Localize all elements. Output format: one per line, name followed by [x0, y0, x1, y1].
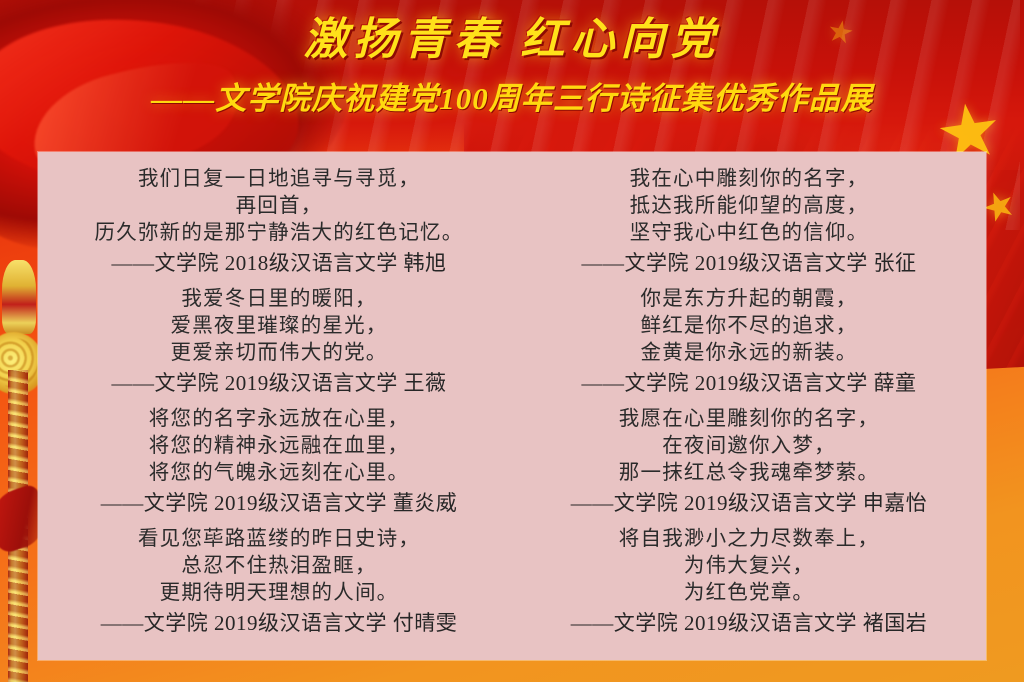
- poem-line: 更期待明天理想的人间。: [52, 580, 506, 607]
- poem-line: 金黄是你永远的新装。: [522, 340, 976, 367]
- poem-line: 在夜间邀你入梦，: [522, 433, 976, 460]
- poems-panel: 我们日复一日地追寻与寻觅， 再回首， 历久弥新的是那宁静浩大的红色记忆。 ——文…: [38, 152, 986, 660]
- poem-line: 为红色党章。: [522, 580, 976, 607]
- poem-line: 你是东方升起的朝霞，: [522, 286, 976, 313]
- poem-line: 将自我渺小之力尽数奉上，: [522, 526, 976, 553]
- poem-line: 将您的名字永远放在心里，: [52, 406, 506, 433]
- poem-attribution: ——文学院 2019级汉语言文学 张征: [522, 248, 976, 279]
- golden-huabiao-pillar: [0, 250, 40, 682]
- poem-attribution: ——文学院 2019级汉语言文学 董炎威: [52, 488, 506, 519]
- poster-title: 激扬青春 红心向党: [0, 12, 1024, 67]
- poem-line: 爱黑夜里璀璨的星光，: [52, 313, 506, 340]
- poem-attribution: ——文学院 2019级汉语言文学 薛童: [522, 368, 976, 399]
- poem-line: 我爱冬日里的暖阳，: [52, 286, 506, 313]
- poem-entry: 将自我渺小之力尽数奉上， 为伟大复兴， 为红色党章。 ——文学院 2019级汉语…: [522, 526, 976, 639]
- poem-line: 更爱亲切而伟大的党。: [52, 340, 506, 367]
- poem-line: 将您的精神永远融在血里，: [52, 433, 506, 460]
- poem-line: 再回首，: [52, 193, 506, 220]
- poem-line: 为伟大复兴，: [522, 553, 976, 580]
- poem-attribution: ——文学院 2019级汉语言文学 申嘉怡: [522, 488, 976, 519]
- poem-entry: 我爱冬日里的暖阳， 爱黑夜里璀璨的星光， 更爱亲切而伟大的党。 ——文学院 20…: [52, 286, 506, 399]
- left-column: 我们日复一日地追寻与寻觅， 再回首， 历久弥新的是那宁静浩大的红色记忆。 ——文…: [38, 152, 516, 660]
- poster-canvas: ★ ★ ★ ★ 激扬青春 红心向党 ——文学院庆祝建党100周年三行诗征集优秀作…: [0, 0, 1024, 682]
- poem-attribution: ——文学院 2018级汉语言文学 韩旭: [52, 248, 506, 279]
- poem-attribution: ——文学院 2019级汉语言文学 付晴雯: [52, 608, 506, 639]
- poem-entry: 我们日复一日地追寻与寻觅， 再回首， 历久弥新的是那宁静浩大的红色记忆。 ——文…: [52, 166, 506, 279]
- poem-line: 我愿在心里雕刻你的名字，: [522, 406, 976, 433]
- poem-attribution: ——文学院 2019级汉语言文学 王薇: [52, 368, 506, 399]
- poster-subtitle: ——文学院庆祝建党100周年三行诗征集优秀作品展: [0, 73, 1024, 118]
- poem-line: 将您的气魄永远刻在心里。: [52, 460, 506, 487]
- poem-entry: 你是东方升起的朝霞， 鲜红是你不尽的追求， 金黄是你永远的新装。 ——文学院 2…: [522, 286, 976, 399]
- poem-entry: 我愿在心里雕刻你的名字， 在夜间邀你入梦， 那一抹红总令我魂牵梦萦。 ——文学院…: [522, 406, 976, 519]
- poem-line: 那一抹红总令我魂牵梦萦。: [522, 460, 976, 487]
- poem-entry: 将您的名字永远放在心里， 将您的精神永远融在血里， 将您的气魄永远刻在心里。 —…: [52, 406, 506, 519]
- poem-attribution: ——文学院 2019级汉语言文学 褚国岩: [522, 608, 976, 639]
- poem-line: 总忍不住热泪盈眶，: [52, 553, 506, 580]
- poem-line: 坚守我心中红色的信仰。: [522, 220, 976, 247]
- poster-header: 激扬青春 红心向党 ——文学院庆祝建党100周年三行诗征集优秀作品展: [0, 12, 1024, 118]
- poem-line: 我们日复一日地追寻与寻觅，: [52, 166, 506, 193]
- right-column: 我在心中雕刻你的名字， 抵达我所能仰望的高度， 坚守我心中红色的信仰。 ——文学…: [516, 152, 986, 660]
- poem-line: 历久弥新的是那宁静浩大的红色记忆。: [52, 220, 506, 247]
- poem-entry: 看见您荜路蓝缕的昨日史诗， 总忍不住热泪盈眶， 更期待明天理想的人间。 ——文学…: [52, 526, 506, 639]
- poem-line: 看见您荜路蓝缕的昨日史诗，: [52, 526, 506, 553]
- poem-line: 我在心中雕刻你的名字，: [522, 166, 976, 193]
- poem-entry: 我在心中雕刻你的名字， 抵达我所能仰望的高度， 坚守我心中红色的信仰。 ——文学…: [522, 166, 976, 279]
- pillar-cap: [2, 260, 36, 334]
- poem-line: 鲜红是你不尽的追求，: [522, 313, 976, 340]
- poem-line: 抵达我所能仰望的高度，: [522, 193, 976, 220]
